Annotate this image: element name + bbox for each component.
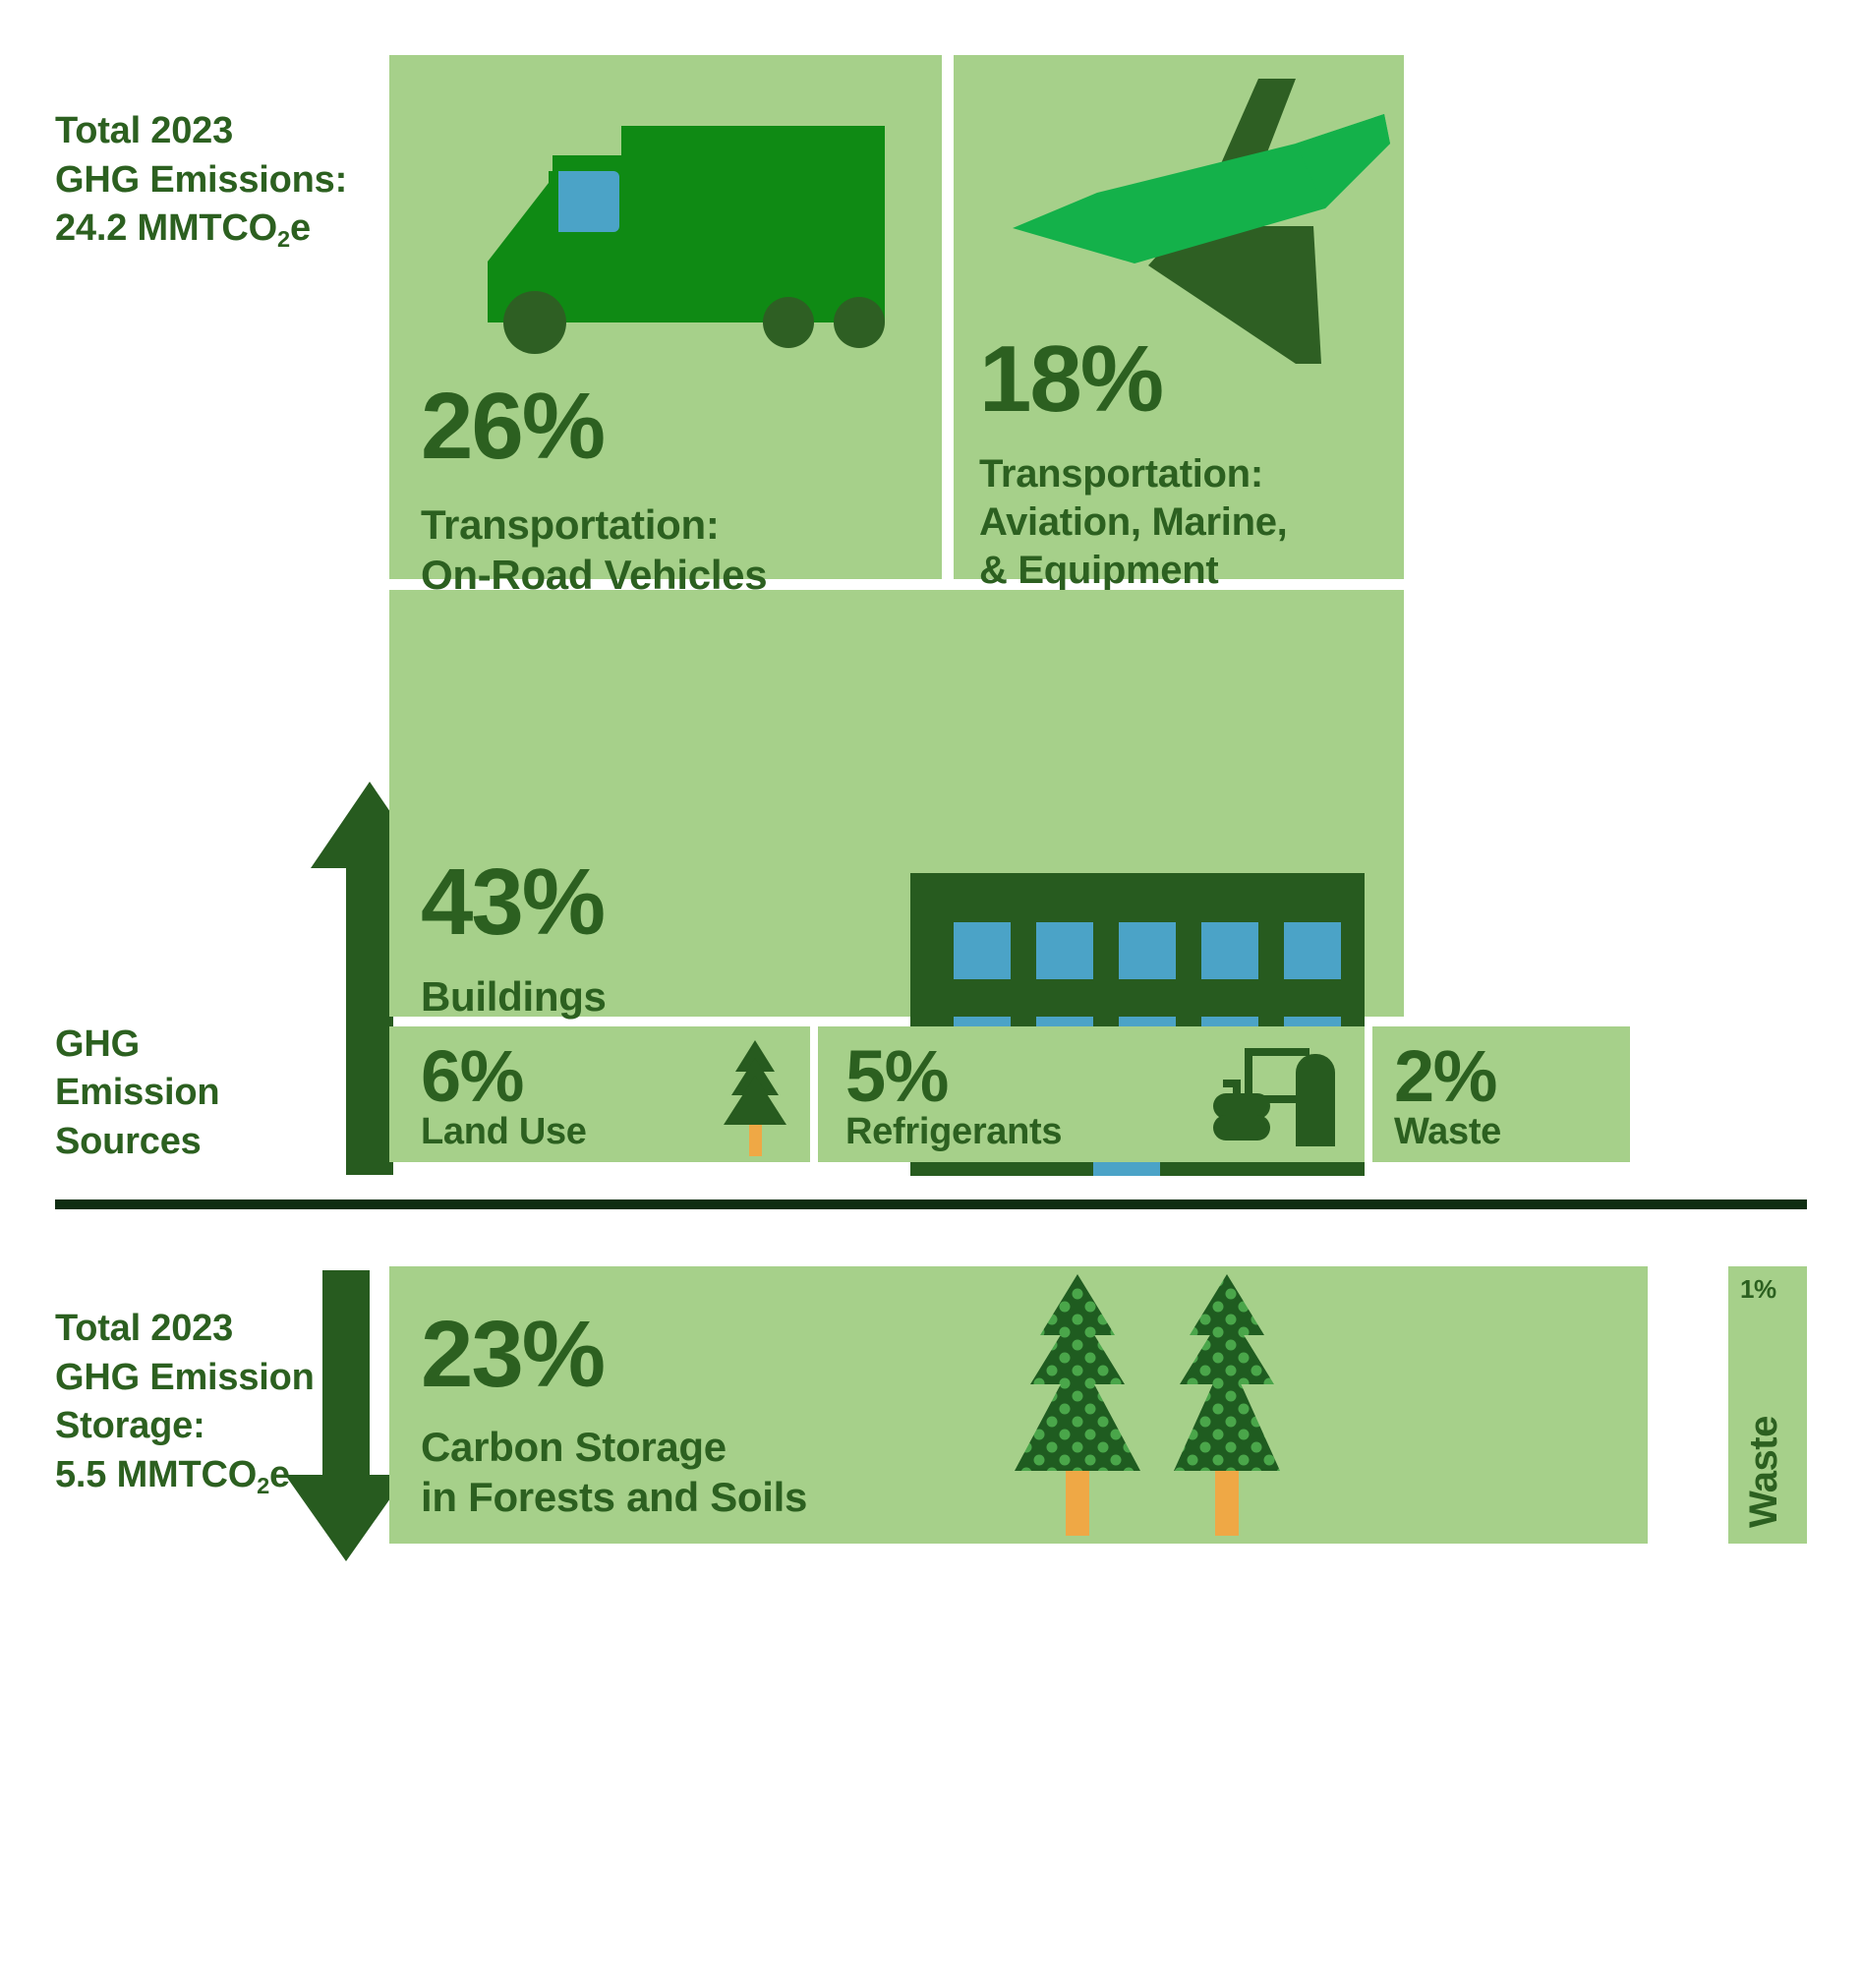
- percent-on-road-vehicles: 26%: [421, 380, 604, 474]
- forest-trees-icon: [1007, 1274, 1280, 1538]
- percent-buildings: 43%: [421, 855, 604, 950]
- ghg-emission-sources-label: GHG Emission Sources: [55, 1021, 350, 1166]
- percent-waste-storage: 1%: [1740, 1276, 1776, 1302]
- caption-carbon-storage: Carbon Storage in Forests and Soils: [421, 1422, 807, 1522]
- co2-subscript-storage: 2: [257, 1473, 269, 1498]
- caption-waste-emissions: Waste: [1394, 1109, 1501, 1154]
- co2-e-suffix: e: [290, 207, 311, 249]
- percent-aviation-marine-equipment: 18%: [979, 332, 1162, 427]
- co2-subscript: 2: [277, 226, 290, 252]
- panel-aviation-marine-equipment[interactable]: 18% Transportation: Aviation, Marine, & …: [954, 55, 1404, 579]
- tree-icon: [716, 1040, 794, 1156]
- caption-aviation-marine-equipment: Transportation: Aviation, Marine, & Equi…: [979, 450, 1287, 594]
- caption-refrigerants: Refrigerants: [845, 1109, 1062, 1154]
- percent-waste-emissions: 2%: [1394, 1040, 1496, 1113]
- panel-refrigerants[interactable]: 5% Refrigerants: [818, 1026, 1365, 1162]
- caption-land-use: Land Use: [421, 1109, 587, 1154]
- panel-carbon-storage[interactable]: 23% Carbon Storage in Forests and Soils: [389, 1266, 1648, 1544]
- panel-waste-storage[interactable]: 1% Waste: [1728, 1266, 1807, 1544]
- emissions-total-label: Total 2023 GHG Emissions: 24.2 MMTCO2e: [55, 59, 379, 254]
- airplane-icon: [1001, 79, 1394, 364]
- panel-waste-emissions[interactable]: 2% Waste: [1372, 1026, 1630, 1162]
- truck-icon: [429, 85, 901, 360]
- percent-land-use: 6%: [421, 1040, 523, 1113]
- percent-refrigerants: 5%: [845, 1040, 948, 1113]
- refrigerant-tank-icon: [1211, 1042, 1339, 1146]
- section-divider: [55, 1199, 1807, 1209]
- panel-land-use[interactable]: 6% Land Use: [389, 1026, 810, 1162]
- caption-waste-storage: Waste: [1742, 1416, 1786, 1528]
- percent-carbon-storage: 23%: [421, 1308, 604, 1402]
- panel-buildings[interactable]: 43% Buildings: [389, 590, 1404, 1017]
- caption-on-road-vehicles: Transportation: On-Road Vehicles: [421, 499, 767, 600]
- caption-buildings: Buildings: [421, 971, 607, 1022]
- panel-on-road-vehicles[interactable]: 26% Transportation: On-Road Vehicles: [389, 55, 942, 579]
